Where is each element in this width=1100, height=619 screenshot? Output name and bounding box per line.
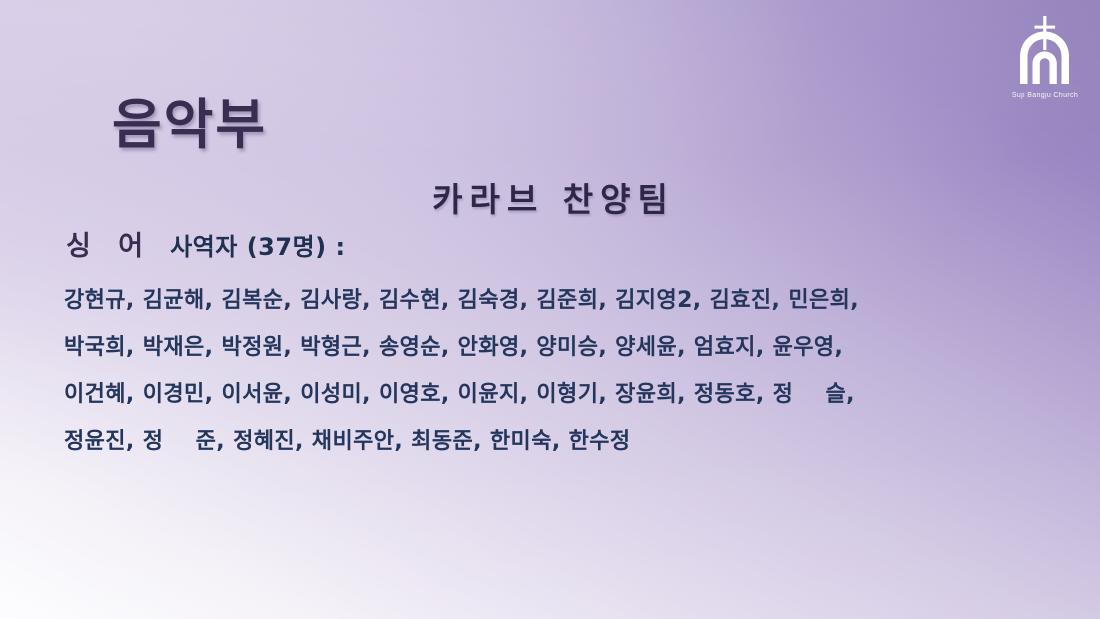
member-name-row: 박국희, 박재은, 박정원, 박형근, 송영순, 안화영, 양미승, 양세윤, … — [64, 324, 1072, 371]
member-roster: 싱 어 사역자 (37명) : 강현규, 김균해, 김복순, 김사랑, 김수현,… — [64, 224, 1072, 465]
presentation-slide: Suji Bangju Church 음악부 카라브 찬양팀 싱 어 사역자 (… — [0, 0, 1100, 619]
roster-header: 싱 어 사역자 (37명) : — [64, 224, 1072, 263]
member-name-row: 정윤진, 정 준, 정혜진, 채비주안, 최동준, 한미숙, 한수정 — [64, 418, 1072, 465]
church-arch-cross-icon — [1010, 12, 1080, 91]
member-name-row: 강현규, 김균해, 김복순, 김사랑, 김수현, 김숙경, 김준희, 김지영2,… — [64, 277, 1072, 324]
team-name-heading: 카라브 찬양팀 — [0, 173, 1100, 221]
church-logo: Suji Bangju Church — [1002, 12, 1088, 104]
church-logo-caption: Suji Bangju Church — [1012, 92, 1078, 99]
part-label-singer: 싱 어 — [64, 224, 152, 263]
role-label-with-count: 사역자 (37명) : — [170, 227, 345, 262]
member-name-list: 강현규, 김균해, 김복순, 김사랑, 김수현, 김숙경, 김준희, 김지영2,… — [64, 277, 1072, 465]
member-name-row: 이건혜, 이경민, 이서윤, 이성미, 이영호, 이윤지, 이형기, 장윤희, … — [64, 371, 1072, 418]
department-title: 음악부 — [112, 98, 267, 152]
